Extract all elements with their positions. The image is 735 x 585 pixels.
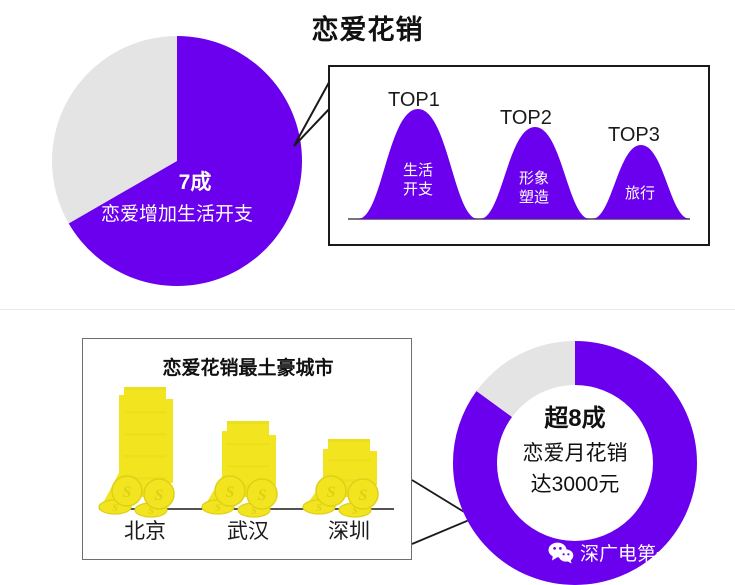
city-label-beijing: 北京 xyxy=(95,515,195,545)
infographic-page: 恋爱花销 7成 恋爱增加生活开支 TOP1 TOP2 TOP3 xyxy=(0,0,735,585)
coin-stack-wuhan xyxy=(202,421,277,517)
pie-description-label: 恋爱增加生活开支 xyxy=(48,199,306,226)
pie-value-label: 7成 xyxy=(48,166,306,196)
peak-label-top3: 旅行 xyxy=(602,185,678,204)
pie-chart-svg xyxy=(48,32,306,290)
richest-cities-box: 恋爱花销最土豪城市 S S xyxy=(82,338,412,560)
top3-peaks-svg xyxy=(330,67,708,244)
coin-stack-shenzhen xyxy=(303,439,378,517)
peak-label-top2: 形象 塑造 xyxy=(496,170,572,208)
peak-label-top1: 生活 开支 xyxy=(380,162,456,200)
peak-rank-top1: TOP1 xyxy=(388,89,440,112)
peak-rank-top2: TOP2 xyxy=(500,107,552,130)
peak-rank-top3: TOP3 xyxy=(608,124,660,147)
section-divider xyxy=(0,309,735,310)
donut-description-line2: 达3000元 xyxy=(452,468,698,498)
city-label-shenzhen: 深圳 xyxy=(299,515,399,545)
watermark: 深广电第一现场 xyxy=(548,539,713,566)
donut-value-label: 超8成 xyxy=(452,398,698,433)
coin-stack-beijing xyxy=(99,387,174,517)
donut-description-line1: 恋爱月花销 xyxy=(452,437,698,467)
top3-expense-box: TOP1 TOP2 TOP3 生活 开支 形象 塑造 旅行 xyxy=(328,65,710,246)
peak-shape-top3 xyxy=(592,145,690,219)
city-label-wuhan: 武汉 xyxy=(198,515,298,545)
pie-chart-expense-increase: 7成 恋爱增加生活开支 xyxy=(48,32,306,290)
wechat-icon xyxy=(548,542,574,564)
watermark-text: 深广电第一现场 xyxy=(580,539,713,566)
